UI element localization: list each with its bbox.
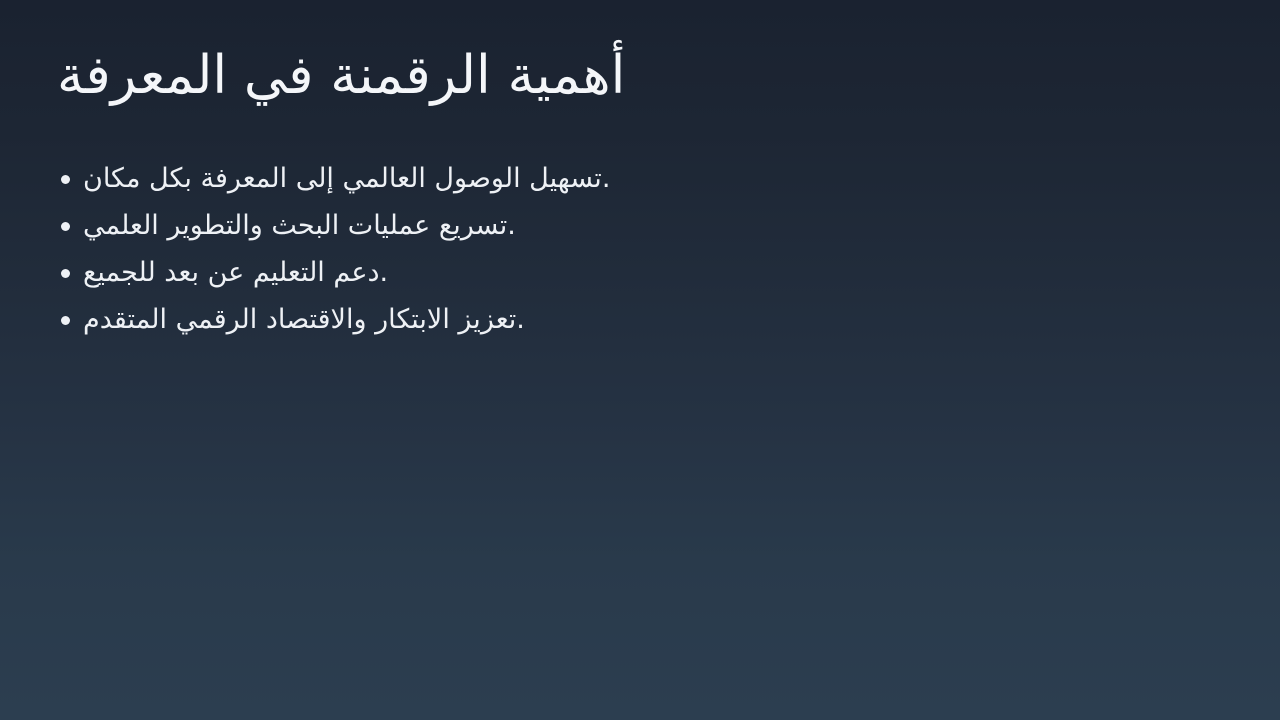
list-item-label: تسهيل الوصول العالمي إلى المعرفة بكل مكا…: [83, 155, 610, 202]
slide-title: أهمية الرقمنة في المعرفة: [57, 45, 1223, 108]
list-item-label: تعزيز الابتكار والاقتصاد الرقمي المتقدم.: [83, 296, 525, 343]
list-item: تعزيز الابتكار والاقتصاد الرقمي المتقدم.: [57, 296, 1223, 343]
list-item-label: دعم التعليم عن بعد للجميع.: [83, 249, 388, 296]
presentation-slide: أهمية الرقمنة في المعرفة تسهيل الوصول ال…: [0, 0, 1280, 720]
bullet-dot-icon: [61, 316, 70, 325]
bullet-dot-icon: [61, 222, 70, 231]
bullet-list: تسهيل الوصول العالمي إلى المعرفة بكل مكا…: [57, 155, 1223, 343]
list-item: دعم التعليم عن بعد للجميع.: [57, 249, 1223, 296]
bullet-dot-icon: [61, 175, 70, 184]
list-item: تسهيل الوصول العالمي إلى المعرفة بكل مكا…: [57, 155, 1223, 202]
bullet-dot-icon: [61, 269, 70, 278]
list-item-label: تسريع عمليات البحث والتطوير العلمي.: [83, 202, 516, 249]
list-item: تسريع عمليات البحث والتطوير العلمي.: [57, 202, 1223, 249]
